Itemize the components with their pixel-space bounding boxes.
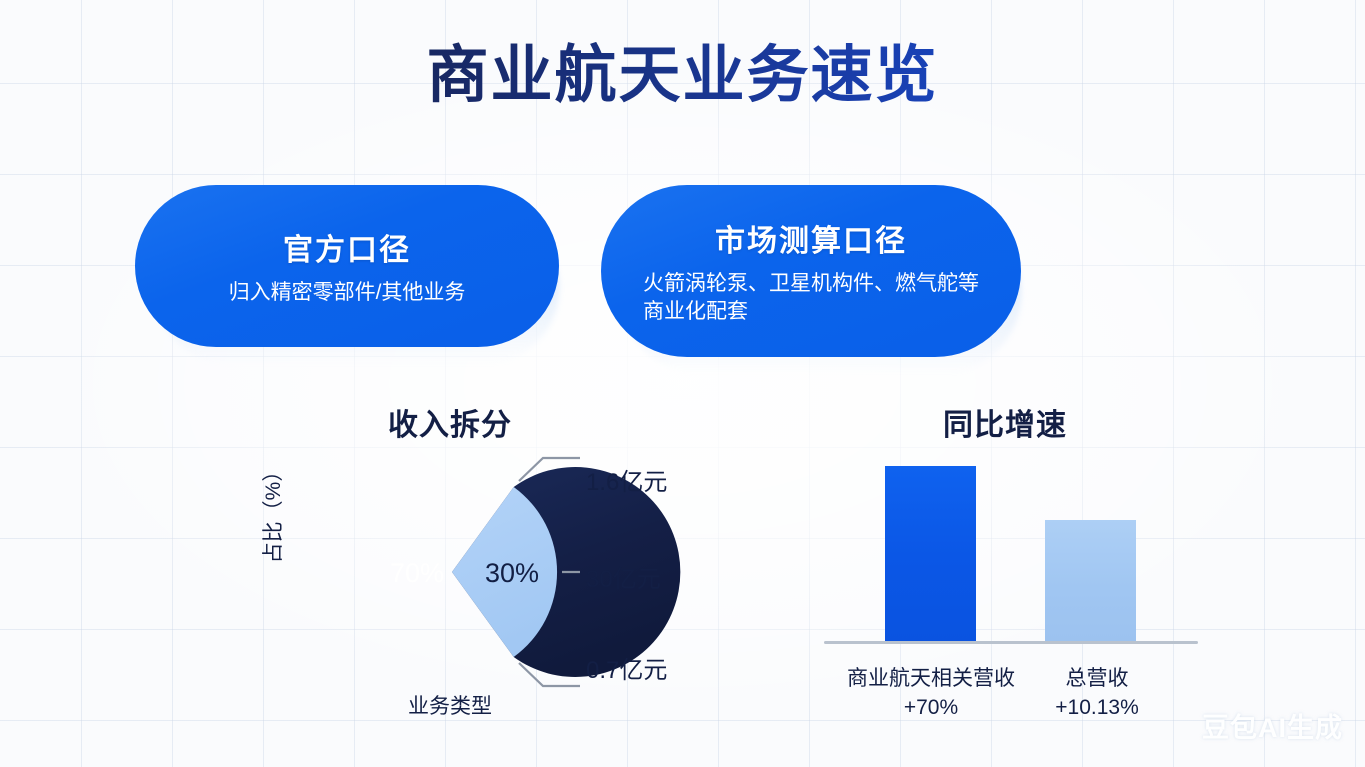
pie-chart: 70% 30% 1.6亿元 30亿元 0.7亿元 — [290, 440, 710, 690]
watermark: 豆包AI生成 — [1202, 706, 1343, 745]
pie-annotation-middle: 30亿元 — [586, 559, 661, 594]
bar-caption-total-revenue-name: 总营收 — [1022, 665, 1172, 693]
pie-y-axis-label: 占比（%） — [257, 442, 287, 582]
pie-chart-title: 收入拆分 — [300, 400, 600, 444]
pie-annotation-bottom: 0.7亿元 — [586, 650, 667, 685]
pie-x-axis-label: 业务类型 — [330, 690, 570, 720]
bar-caption-commercial-space-name: 商业航天相关营收 — [818, 665, 1044, 693]
bar-caption-commercial-space: 商业航天相关营收 +70% — [818, 665, 1044, 722]
pill-official-title: 官方口径 — [283, 225, 411, 269]
page-title: 商业航天业务速览 — [0, 42, 1365, 110]
bar-caption-total-revenue-value: +10.13% — [1022, 694, 1172, 722]
bar-chart: 商业航天相关营收 +70% 总营收 +10.13% — [800, 440, 1250, 730]
slide-canvas: 商业航天业务速览 官方口径 归入精密零部件/其他业务 市场测算口径 火箭涡轮泵、… — [0, 0, 1365, 767]
bar-chart-baseline — [824, 641, 1198, 644]
bar-caption-total-revenue: 总营收 +10.13% — [1022, 665, 1172, 722]
pill-market-subtitle: 火箭涡轮泵、卫星机构件、燃气舵等商业化配套 — [601, 270, 1021, 327]
pill-official-subtitle: 归入精密零部件/其他业务 — [203, 279, 492, 307]
pill-market[interactable]: 市场测算口径 火箭涡轮泵、卫星机构件、燃气舵等商业化配套 — [601, 185, 1021, 357]
bar-commercial-space-revenue[interactable] — [885, 466, 976, 644]
bar-total-revenue[interactable] — [1045, 520, 1136, 644]
pie-annotation-top: 1.6亿元 — [586, 462, 667, 497]
bar-caption-commercial-space-value: +70% — [818, 694, 1044, 722]
pill-market-title: 市场测算口径 — [715, 216, 907, 260]
pill-official[interactable]: 官方口径 归入精密零部件/其他业务 — [135, 185, 559, 347]
bar-chart-title: 同比增速 — [880, 400, 1130, 444]
